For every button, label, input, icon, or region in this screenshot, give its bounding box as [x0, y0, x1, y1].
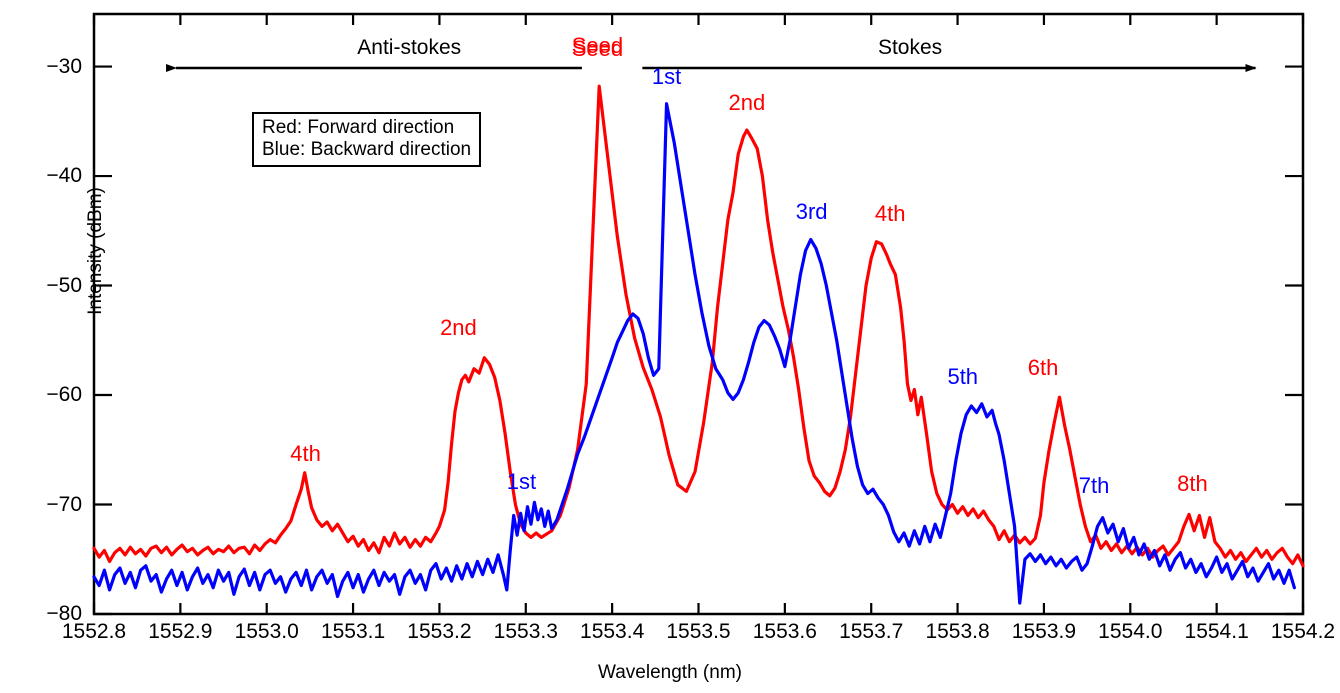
y-axis-label: Intensity (dBm) [85, 151, 107, 351]
y-tick-label: −70 [22, 493, 82, 517]
axis-ticks [94, 14, 1303, 614]
y-tick-label: −40 [22, 164, 82, 188]
y-tick-label: −60 [22, 383, 82, 407]
y-tick-label: −50 [22, 274, 82, 298]
y-tick-label: −30 [22, 55, 82, 79]
peak-label-6th: 6th [1028, 355, 1059, 381]
peak-label-4th: 4th [875, 201, 906, 227]
x-axis-label: Wavelength (nm) [520, 662, 820, 684]
stokes-label: Stokes [878, 36, 942, 60]
spectrum-figure: Intensity (dBm) Wavelength (nm) −30−40−5… [0, 0, 1340, 693]
legend-box: Red: Forward direction Blue: Backward di… [252, 112, 481, 167]
peak-label-8th: 8th [1177, 471, 1208, 497]
plot-frame [94, 14, 1303, 614]
seed-label: Seed [572, 36, 623, 62]
legend-forward: Red: Forward direction [262, 117, 471, 139]
anti-stokes-label: Anti-stokes [357, 36, 461, 60]
x-tick-label: 1554.2 [1248, 620, 1340, 644]
peak-label-1st: 1st [507, 469, 536, 495]
peak-label-7th: 7th [1079, 473, 1110, 499]
peak-label-2nd: 2nd [729, 90, 766, 116]
peak-label-3rd: 3rd [796, 199, 828, 225]
peak-label-4th: 4th [290, 441, 321, 467]
peak-label-5th: 5th [947, 364, 978, 390]
peak-label-2nd: 2nd [440, 315, 477, 341]
plot-canvas [0, 0, 1340, 693]
legend-backward: Blue: Backward direction [262, 139, 471, 161]
peak-label-1st: 1st [652, 64, 681, 90]
series-line-backward [94, 104, 1294, 603]
